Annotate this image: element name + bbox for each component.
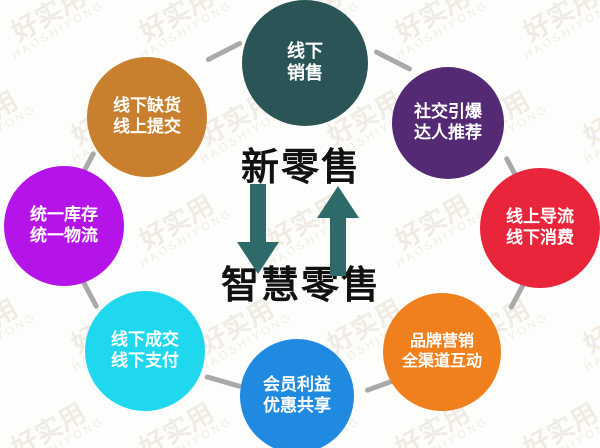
watermark-tile: 好实用HAOSHIYONG bbox=[509, 0, 600, 62]
node-circle-member-benefits[interactable]: 会员利益优惠共享 bbox=[240, 339, 354, 448]
watermark-tile: 好实用HAOSHIYONG bbox=[509, 392, 600, 448]
watermark-en-text: HAOSHIYONG bbox=[0, 104, 39, 166]
watermark-en-text: HAOSHIYONG bbox=[523, 416, 600, 448]
node-label-line1: 线下缺货 bbox=[113, 96, 181, 117]
node-label-line1: 线下 bbox=[287, 41, 323, 63]
watermark-cn-text: 好实用 bbox=[381, 0, 485, 52]
up-arrow-icon bbox=[316, 184, 360, 276]
center-transform-block: 新零售 智慧零售 bbox=[190, 136, 412, 312]
watermark-en-text: HAOSHIYONG bbox=[139, 416, 235, 448]
node-label-line1: 社交引爆 bbox=[414, 102, 482, 123]
connector-dash bbox=[205, 40, 243, 63]
node-label-line1: 线上导流 bbox=[506, 207, 574, 228]
node-label-line2: 销售 bbox=[287, 63, 323, 85]
watermark-tile: 好实用HAOSHIYONG bbox=[0, 80, 39, 166]
watermark-cn-text: 好实用 bbox=[0, 392, 102, 448]
node-label-line2: 线上提交 bbox=[113, 117, 181, 138]
watermark-tile: 好实用HAOSHIYONG bbox=[0, 392, 107, 448]
node-label-line1: 会员利益 bbox=[263, 375, 331, 396]
node-label-line2: 线下消费 bbox=[506, 228, 574, 249]
watermark-cn-text: 好实用 bbox=[509, 0, 600, 52]
watermark-tile: 好实用HAOSHIYONG bbox=[0, 288, 39, 374]
node-circle-unified-inventory-logistics[interactable]: 统一库存统一物流 bbox=[4, 166, 124, 286]
watermark-en-text: HAOSHIYONG bbox=[0, 312, 39, 374]
infographic-canvas: 好实用HAOSHIYONG好实用HAOSHIYONG好实用HAOSHIYONG好… bbox=[0, 0, 600, 448]
watermark-cn-text: 好实用 bbox=[569, 80, 600, 156]
connector-dash bbox=[373, 49, 413, 73]
watermark-en-text: HAOSHIYONG bbox=[583, 104, 600, 166]
watermark-cn-text: 好实用 bbox=[509, 392, 600, 448]
watermark-en-text: HAOSHIYONG bbox=[583, 312, 600, 374]
node-label-line1: 品牌营销 bbox=[410, 332, 474, 352]
watermark-en-text: HAOSHIYONG bbox=[11, 0, 107, 62]
node-circle-offline-out-of-stock-online-submit[interactable]: 线下缺货线上提交 bbox=[87, 57, 207, 177]
node-label-line2: 全渠道互动 bbox=[402, 352, 482, 372]
watermark-cn-text: 好实用 bbox=[0, 0, 102, 52]
node-label-line1: 线下成交 bbox=[111, 330, 179, 351]
watermark-cn-text: 好实用 bbox=[0, 288, 34, 364]
watermark-en-text: HAOSHIYONG bbox=[395, 416, 491, 448]
watermark-en-text: HAOSHIYONG bbox=[395, 0, 491, 62]
node-label-line1: 统一库存 bbox=[30, 205, 98, 226]
node-circle-offline-deal-offline-pay[interactable]: 线下成交线下支付 bbox=[85, 291, 205, 411]
connector-dash bbox=[204, 374, 242, 389]
node-label-line2: 线下支付 bbox=[111, 351, 179, 372]
watermark-cn-text: 好实用 bbox=[569, 288, 600, 364]
center-label-new-retail: 新零售 bbox=[190, 136, 412, 191]
watermark-en-text: HAOSHIYONG bbox=[11, 416, 107, 448]
watermark-tile: 好实用HAOSHIYONG bbox=[569, 288, 600, 374]
down-arrow-icon bbox=[236, 184, 280, 276]
node-circle-offline-sales[interactable]: 线下销售 bbox=[242, 0, 368, 126]
watermark-tile: 好实用HAOSHIYONG bbox=[381, 0, 491, 62]
watermark-cn-text: 好实用 bbox=[125, 0, 229, 52]
watermark-en-text: HAOSHIYONG bbox=[523, 0, 600, 62]
node-circle-online-traffic-offline-spend[interactable]: 线上导流线下消费 bbox=[480, 168, 600, 288]
center-label-smart-retail: 智慧零售 bbox=[190, 254, 412, 309]
node-label-line2: 统一物流 bbox=[30, 226, 98, 247]
node-label-line2: 达人推荐 bbox=[414, 123, 482, 144]
watermark-tile: 好实用HAOSHIYONG bbox=[0, 0, 107, 62]
watermark-tile: 好实用HAOSHIYONG bbox=[569, 80, 600, 166]
watermark-cn-text: 好实用 bbox=[0, 80, 34, 156]
node-label-line2: 优惠共享 bbox=[263, 396, 331, 417]
